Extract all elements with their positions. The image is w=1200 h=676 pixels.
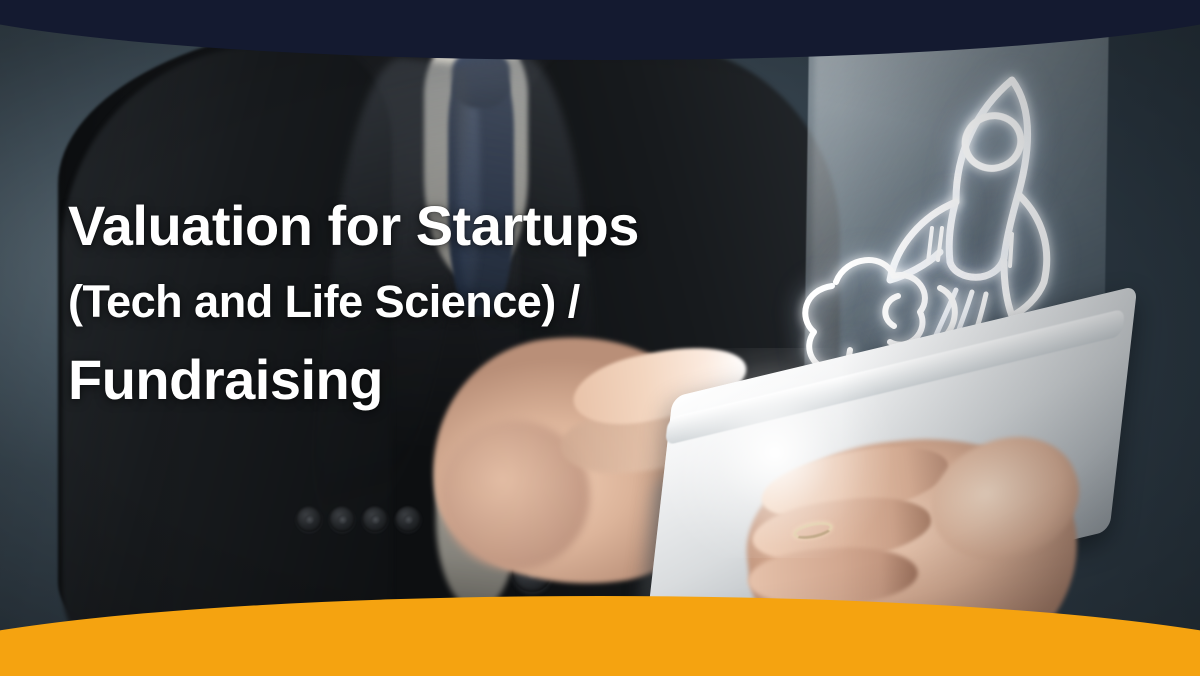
title-line-1: Valuation for Startups bbox=[68, 196, 788, 255]
banner-title: Valuation for Startups (Tech and Life Sc… bbox=[68, 196, 788, 409]
title-line-3: Fundraising bbox=[68, 350, 788, 409]
title-line-2: (Tech and Life Science) / bbox=[68, 277, 788, 327]
course-title-banner: Valuation for Startups (Tech and Life Sc… bbox=[0, 0, 1200, 676]
